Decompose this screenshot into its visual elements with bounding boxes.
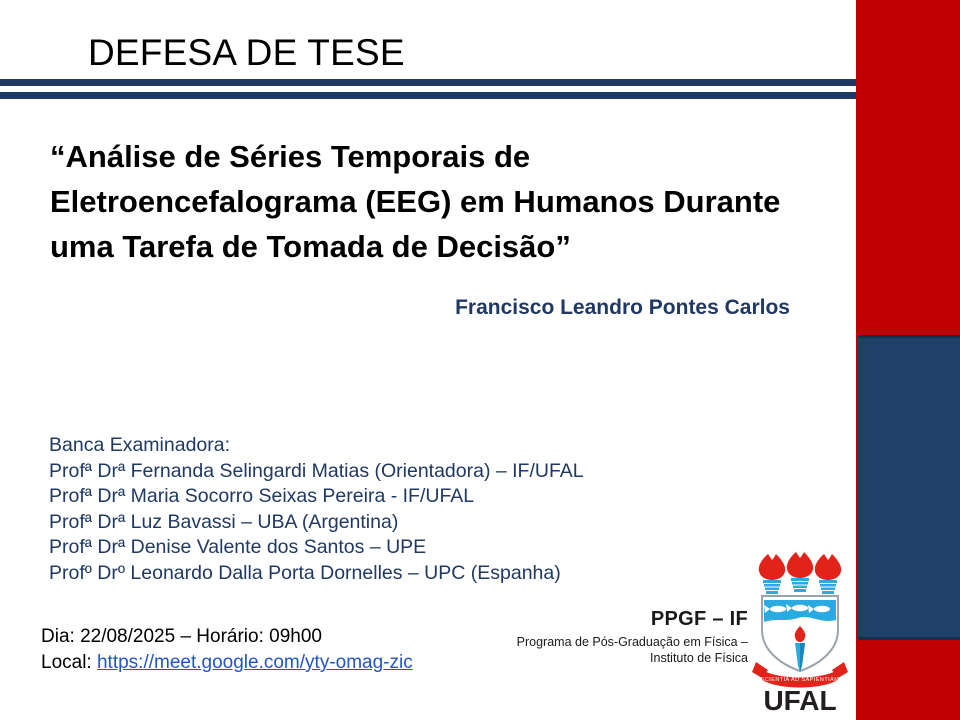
author-name: Francisco Leandro Pontes Carlos (50, 296, 790, 320)
page-title: DEFESA DE TESE (88, 32, 405, 74)
thesis-title: “Análise de Séries Temporais de Eletroen… (50, 134, 790, 269)
header-rule-bottom (0, 92, 856, 99)
ppgf-subtitle-line1: Programa de Pós-Graduação em Física – (470, 634, 748, 650)
ppgf-title: PPGF – IF (470, 607, 748, 631)
committee-list: Banca Examinadora: Profª Drª Fernanda Se… (49, 433, 584, 586)
meet-link[interactable]: https://meet.google.com/yty-omag-zic (97, 652, 413, 673)
slide-canvas: DEFESA DE TESE “Análise de Séries Tempor… (0, 0, 960, 720)
ufal-motto: SCIENTIA AD SAPIENTIAM (761, 677, 839, 683)
committee-heading: Banca Examinadora: (49, 433, 584, 459)
ufal-wordmark: UFAL (763, 685, 836, 716)
committee-member: Profª Drª Luz Bavassi – UBA (Argentina) (49, 510, 584, 536)
committee-member: Profª Drª Maria Socorro Seixas Pereira -… (49, 484, 584, 510)
shield (762, 596, 838, 672)
torch-group (759, 552, 841, 594)
ppgf-text-block: PPGF – IF Programa de Pós-Graduação em F… (470, 607, 748, 666)
committee-member: Profº Drº Leonardo Dalla Porta Dornelles… (49, 561, 584, 587)
event-date-time: Dia: 22/08/2025 – Horário: 09h00 (41, 624, 413, 650)
right-navy-block (858, 335, 960, 640)
ufal-logo: SCIENTIA AD SAPIENTIAM UFAL (748, 544, 852, 716)
event-details: Dia: 22/08/2025 – Horário: 09h00 Local: … (41, 624, 413, 676)
header-rule-top (0, 79, 856, 86)
committee-member: Profª Drª Denise Valente dos Santos – UP… (49, 535, 584, 561)
committee-member: Profª Drª Fernanda Selingardi Matias (Or… (49, 459, 584, 485)
ppgf-subtitle: Programa de Pós-Graduação em Física – In… (470, 634, 748, 666)
local-label: Local: (41, 652, 92, 673)
ppgf-subtitle-line2: Instituto de Física (470, 650, 748, 666)
event-location-line: Local: https://meet.google.com/yty-omag-… (41, 650, 413, 676)
